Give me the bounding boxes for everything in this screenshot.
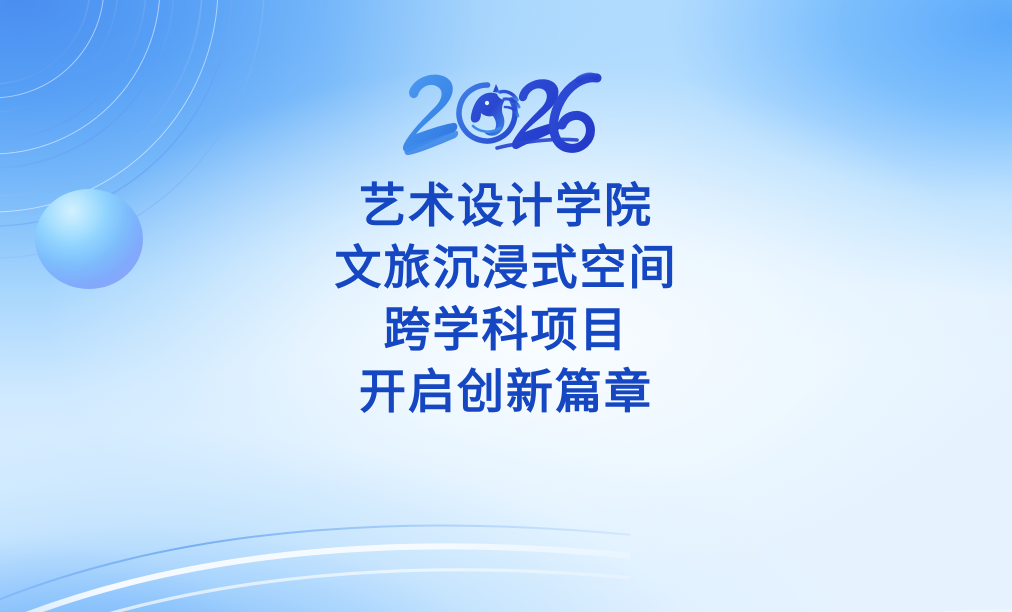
headline-line-2: 文旅沉浸式空间 — [0, 238, 1012, 300]
headline-line-3: 跨学科项目 — [0, 300, 1012, 362]
poster-canvas: 艺术设计学院 文旅沉浸式空间 跨学科项目 开启创新篇章 — [0, 0, 1012, 612]
digit-0-horse-emblem — [449, 75, 525, 151]
headline-block: 艺术设计学院 文旅沉浸式空间 跨学科项目 开启创新篇章 — [0, 176, 1012, 424]
poster-content: 艺术设计学院 文旅沉浸式空间 跨学科项目 开启创新篇章 — [0, 0, 1012, 612]
headline-line-4: 开启创新篇章 — [0, 362, 1012, 424]
headline-line-1: 艺术设计学院 — [0, 176, 1012, 238]
digit-6 — [554, 76, 597, 149]
year-2026-brush-logo — [401, 66, 611, 166]
digit-2-first — [403, 75, 458, 155]
